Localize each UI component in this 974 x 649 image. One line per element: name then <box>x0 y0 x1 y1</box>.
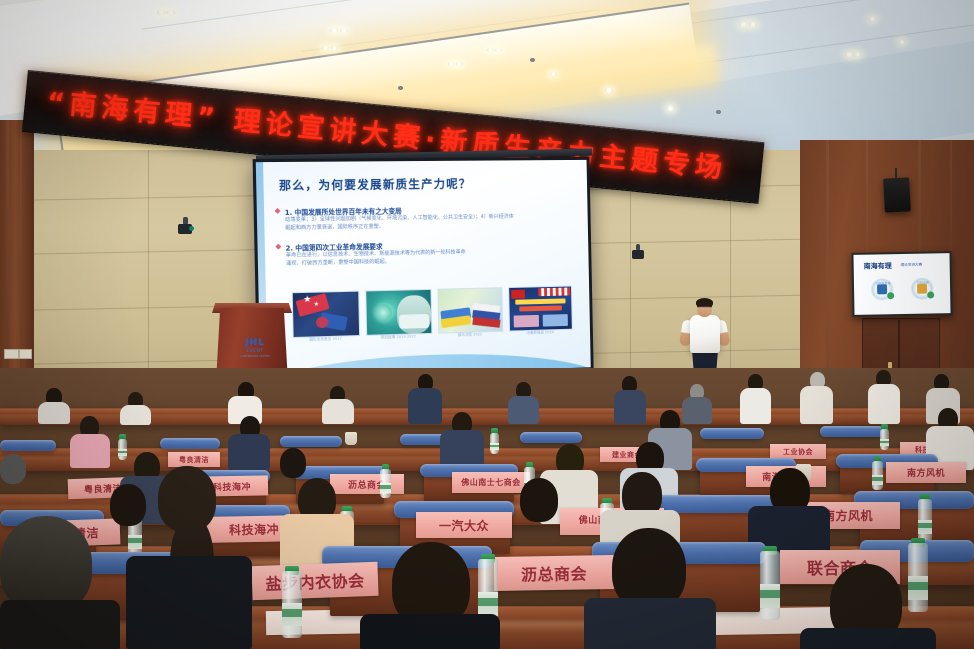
ceiling-spotlight-off <box>398 86 403 90</box>
audience-body <box>38 402 70 424</box>
bottle-body <box>118 439 127 460</box>
qr-caption-livestream: 扫码看直播 <box>868 281 898 286</box>
trade-war-infographic-image <box>508 286 573 332</box>
ceiling-spotlight-off <box>530 58 535 62</box>
bottle-label-band <box>872 477 883 480</box>
slide-bullet-1-detail-b: 崛起和西方力量衰退，国际秩序正在重塑。 <box>285 223 384 232</box>
audience-body <box>800 386 833 424</box>
ceiling-spotlight <box>330 28 338 33</box>
table-placard: 一汽大众 <box>416 512 512 538</box>
bottle-body <box>490 433 499 454</box>
water-bottle[interactable] <box>880 424 889 450</box>
audience-body <box>408 388 442 424</box>
audience-body <box>740 388 771 424</box>
bottle-label-band <box>478 598 498 606</box>
conference-hall-photo: “南海有理” 理论宣讲大赛·新质生产力主题专场 那么，为何要发展新质生产力呢？ … <box>0 0 974 649</box>
ceiling-speaker-icon <box>883 177 911 212</box>
audience-body <box>614 390 646 424</box>
audience-head <box>110 484 146 526</box>
audience-body <box>584 598 716 649</box>
power-outlet[interactable] <box>19 349 32 359</box>
podium-logo: JHL EVENT CONFERENCE SYSTEM <box>238 338 272 358</box>
bottle-label-band <box>128 538 142 543</box>
ceiling-spotlight <box>157 10 166 15</box>
bottle-label-band <box>380 485 391 488</box>
bottle-label-band <box>880 441 889 444</box>
glasses-icon <box>699 306 710 310</box>
bottle-body <box>282 571 302 638</box>
water-bottle[interactable] <box>918 494 932 542</box>
ceiling-spotlight <box>869 17 876 21</box>
bottle-body <box>880 429 889 450</box>
wall-camera-icon <box>632 250 644 259</box>
ceiling-spotlight <box>340 28 348 33</box>
water-bottle[interactable] <box>908 538 928 612</box>
ceiling-spotlight <box>667 106 674 111</box>
ceiling-spotlight <box>739 22 748 27</box>
audience-head <box>520 478 558 522</box>
ceiling-spotlight <box>456 62 463 66</box>
ceiling-spotlight <box>899 40 905 44</box>
bottle-body <box>760 551 780 620</box>
qr-core-icon <box>917 284 927 294</box>
slide-thumb-1-caption: 国际关系紧张 2017 <box>293 336 359 343</box>
projection-screen-surface: 那么，为何要发展新质生产力呢？ 1. 中国发展所处世界百年未有之大变局 动荡变革… <box>256 160 591 379</box>
side-monitor-subtitle: 理论宣讲大赛 <box>901 263 923 268</box>
ceiling-spotlight <box>749 22 757 27</box>
water-bottle[interactable] <box>490 428 499 454</box>
slide-thumb-2-caption: 新冠疫情 2019-2022 <box>366 334 430 341</box>
audience-body <box>360 614 500 649</box>
ceiling-spotlight <box>845 52 853 57</box>
ceiling-spotlight <box>550 72 557 76</box>
slide-thumb-4-caption: 中美贸易战 2018 <box>509 330 571 337</box>
audience-body <box>228 434 270 470</box>
table-placard: 粤良清洁 <box>168 452 220 467</box>
bottle-label-band <box>760 590 780 598</box>
bottle-label-band <box>908 582 928 590</box>
ceiling-spotlight <box>331 46 338 50</box>
qr-caption-vote: 扫码投票 <box>908 280 938 285</box>
geopolitics-flags-image: ★ ★ <box>292 291 360 338</box>
bottle-label-band <box>490 445 499 448</box>
ceiling-spotlight <box>854 52 861 57</box>
seat-cushion[interactable] <box>520 432 582 443</box>
side-monitor-title: 南海有理 <box>864 261 892 271</box>
table-placard: 佛山南士七商会 <box>452 472 530 493</box>
audience-head <box>0 454 26 484</box>
audience-body <box>120 405 151 425</box>
water-bottle[interactable] <box>118 434 127 460</box>
camera-lens-icon <box>189 226 194 231</box>
bottle-body <box>380 469 391 498</box>
ceiling-spotlight <box>448 62 455 66</box>
audience-body <box>682 397 712 424</box>
bottle-label-band <box>918 523 932 528</box>
side-monitor: 南海有理 理论宣讲大赛 扫码看直播 扫码投票 <box>851 251 952 317</box>
bottle-body <box>918 499 932 542</box>
ceiling-spotlight-off <box>716 110 721 114</box>
audience-body <box>0 600 120 649</box>
audience-body <box>508 396 539 424</box>
seat-cushion[interactable] <box>700 428 764 439</box>
slide-bullet-2-detail-b: 涌现，打破西方垄断，重塑中国科技的崛起。 <box>286 258 390 267</box>
bottle-label-band <box>282 609 302 617</box>
bottle-body <box>908 543 928 612</box>
slide-thumb-3-caption: 俄乌冲突 2022 <box>438 332 501 339</box>
ceiling-spotlight <box>605 88 613 93</box>
audience-body <box>70 434 110 468</box>
audience-body <box>868 384 900 424</box>
seat-cushion[interactable] <box>280 436 342 447</box>
ceiling-spotlight <box>495 48 502 52</box>
water-bottle[interactable] <box>760 546 780 620</box>
bullet-marker-icon <box>275 244 281 250</box>
ceiling-spotlight <box>322 46 329 50</box>
podium-logo-main: JHL <box>238 338 272 348</box>
paper-cup[interactable] <box>345 432 357 445</box>
pandemic-virus-image <box>365 289 432 336</box>
water-bottle[interactable] <box>872 456 883 490</box>
seat-cushion[interactable] <box>0 440 56 451</box>
audience-head <box>280 448 306 478</box>
table-placard: 盐步内衣协会 <box>251 562 378 600</box>
podium-logo-sub2: CONFERENCE SYSTEM <box>238 355 272 358</box>
auditorium-seating: 粤良清洁 建业商会 工业协会 科技商会 <box>0 368 974 649</box>
bottle-body <box>872 461 883 490</box>
slide-title: 那么，为何要发展新质生产力呢？ <box>279 176 472 194</box>
table-placard: 工业协会 <box>770 444 826 459</box>
bullet-marker-icon <box>275 208 281 214</box>
table-placard: 沥总商会 <box>330 474 404 494</box>
water-bottle[interactable] <box>282 566 302 638</box>
ceiling-spotlight <box>487 48 494 52</box>
table-placard: 南方风机 <box>886 462 966 483</box>
audience-body <box>800 628 936 649</box>
audience-body <box>126 556 252 649</box>
qr-core-icon <box>877 284 887 294</box>
bottle-label-band <box>118 451 127 454</box>
projection-screen: 那么，为何要发展新质生产力呢？ 1. 中国发展所处世界百年未有之大变局 动荡变革… <box>253 157 594 382</box>
ukraine-russia-map-image <box>437 287 503 333</box>
ceiling-spotlight <box>167 10 175 15</box>
side-monitor-surface: 南海有理 理论宣讲大赛 扫码看直播 扫码投票 <box>853 253 950 315</box>
speaker-torso <box>690 315 720 353</box>
audience-body <box>322 399 354 424</box>
seat-cushion[interactable] <box>160 438 220 449</box>
power-outlet[interactable] <box>4 349 19 359</box>
podium-logo-sub: EVENT <box>238 349 272 354</box>
table-placard: 沥总商会 <box>494 555 615 591</box>
water-bottle[interactable] <box>380 464 391 498</box>
seat-cushion[interactable] <box>820 426 884 437</box>
